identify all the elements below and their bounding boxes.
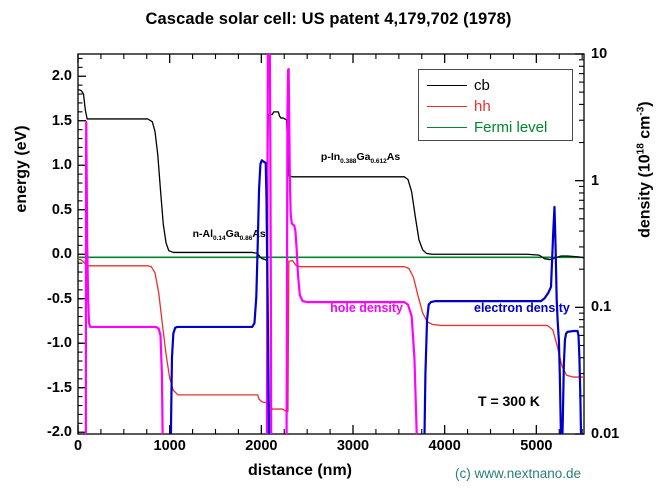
legend-label-2: Fermi level bbox=[474, 120, 547, 135]
legend-swatch-0 bbox=[427, 85, 467, 86]
legend-item-cb: cb bbox=[427, 75, 572, 96]
chart-canvas: Cascade solar cell: US patent 4,179,702 … bbox=[0, 0, 657, 499]
series-electron-density bbox=[168, 160, 582, 499]
legend-item-Fermi-level: Fermi level bbox=[427, 117, 572, 138]
legend-label-0: cb bbox=[474, 78, 490, 93]
series-hh bbox=[78, 260, 584, 412]
legend-label-1: hh bbox=[474, 99, 491, 114]
legend-item-hh: hh bbox=[427, 96, 572, 117]
legend-swatch-2 bbox=[427, 127, 467, 128]
legend-swatch-1 bbox=[427, 106, 467, 107]
chart-legend: cbhhFermi level bbox=[418, 69, 573, 141]
